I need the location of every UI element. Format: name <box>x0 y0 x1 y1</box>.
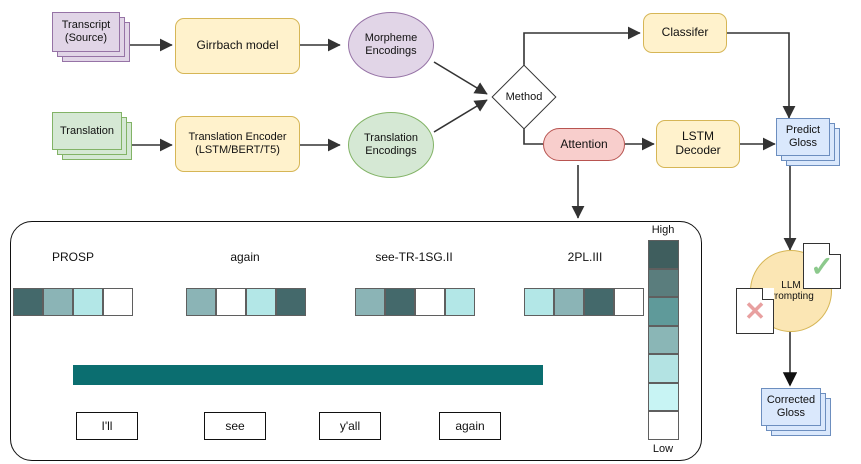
word-box-label: again <box>455 419 484 433</box>
colorbar-segment <box>648 297 679 326</box>
context-vector-bar <box>73 365 543 385</box>
morpheme-encodings-node[interactable]: Morpheme Encodings <box>348 12 434 78</box>
corrected-gloss-label-line1: Corrected <box>767 394 815 407</box>
translation-encodings-node[interactable]: Translation Encodings <box>348 112 434 178</box>
heatmap-row-label-3: 2PL.III <box>530 250 640 264</box>
word-box-3[interactable]: again <box>439 412 501 440</box>
check-glyph: ✓ <box>804 244 840 288</box>
colorbar-segment <box>648 354 679 383</box>
transcript-source-deck[interactable]: Transcript (Source) <box>52 12 130 62</box>
deck-sheet-front: Predict Gloss <box>776 118 830 156</box>
method-decision-node[interactable]: Method <box>501 74 547 120</box>
word-box-label: I'll <box>102 419 113 433</box>
translation-encoder-label-line2: (LSTM/BERT/T5) <box>188 144 286 157</box>
corrected-gloss-label-line2: Gloss <box>767 407 815 420</box>
method-label-wrap: Method <box>501 74 547 120</box>
heatmap-cell[interactable] <box>43 288 73 316</box>
row-label-text: 2PL.III <box>568 250 603 264</box>
translation-encoder-label-line1: Translation Encoder <box>188 131 286 144</box>
colorbar-segment <box>648 383 679 412</box>
deck-sheet-front: Corrected Gloss <box>761 388 821 426</box>
predict-gloss-label-line2: Gloss <box>786 137 820 150</box>
attention-colorbar <box>648 240 679 440</box>
word-box-label: y'all <box>340 419 360 433</box>
heatmap-cell[interactable] <box>584 288 614 316</box>
classifier-label: Classifer <box>662 26 709 40</box>
lstm-decoder-label-line2: Decoder <box>675 144 720 158</box>
heatmap-cell[interactable] <box>415 288 445 316</box>
translation-source-deck[interactable]: Translation <box>52 112 132 162</box>
word-box-1[interactable]: see <box>204 412 266 440</box>
lstm-decoder-node[interactable]: LSTM Decoder <box>656 120 740 168</box>
colorbar-high-label: High <box>640 224 686 236</box>
colorbar-segment <box>648 411 679 440</box>
girrbach-model-node[interactable]: Girrbach model <box>175 18 300 74</box>
heatmap-row-3[interactable] <box>524 288 644 316</box>
method-label: Method <box>506 91 543 103</box>
heatmap-row-label-1: again <box>190 250 300 264</box>
llm-prompting-label-line2: Prompting <box>768 291 814 302</box>
heatmap-cell[interactable] <box>73 288 103 316</box>
heatmap-cell[interactable] <box>13 288 43 316</box>
girrbach-model-label: Girrbach model <box>196 39 278 53</box>
heatmap-row-2[interactable] <box>355 288 475 316</box>
x-glyph: ✕ <box>737 289 773 333</box>
x-document-icon: ✕ <box>736 288 774 334</box>
heatmap-row-0[interactable] <box>13 288 133 316</box>
heatmap-cell[interactable] <box>524 288 554 316</box>
colorbar-low-text: Low <box>653 443 673 455</box>
colorbar-segment <box>648 326 679 355</box>
heatmap-row-label-2: see-TR-1SG.II <box>344 250 484 264</box>
translation-encodings-label-line1: Translation <box>364 132 418 145</box>
predict-gloss-deck[interactable]: Predict Gloss <box>776 118 842 168</box>
colorbar-low-label: Low <box>640 443 686 455</box>
colorbar-segment <box>648 269 679 298</box>
corrected-gloss-deck[interactable]: Corrected Gloss <box>761 388 833 436</box>
heatmap-cell[interactable] <box>246 288 276 316</box>
word-box-0[interactable]: I'll <box>76 412 138 440</box>
word-box-label: see <box>225 419 244 433</box>
morpheme-label-line1: Morpheme <box>365 32 418 45</box>
translation-label: Translation <box>60 125 114 138</box>
deck-sheet-front: Transcript (Source) <box>52 12 120 52</box>
heatmap-cell[interactable] <box>445 288 475 316</box>
heatmap-row-label-0: PROSP <box>18 250 128 264</box>
heatmap-cell[interactable] <box>554 288 584 316</box>
transcript-label-line1: Transcript <box>62 19 111 32</box>
heatmap-cell[interactable] <box>276 288 306 316</box>
heatmap-row-1[interactable] <box>186 288 306 316</box>
row-label-text: again <box>230 250 259 264</box>
colorbar-high-text: High <box>652 224 675 236</box>
colorbar-segment <box>648 240 679 269</box>
deck-sheet-front: Translation <box>52 112 122 150</box>
heatmap-cell[interactable] <box>186 288 216 316</box>
heatmap-cell[interactable] <box>216 288 246 316</box>
heatmap-cell[interactable] <box>385 288 415 316</box>
heatmap-cell[interactable] <box>103 288 133 316</box>
heatmap-cell[interactable] <box>614 288 644 316</box>
morpheme-label-line2: Encodings <box>365 45 418 58</box>
transcript-label-line2: (Source) <box>62 32 111 45</box>
row-label-text: see-TR-1SG.II <box>375 250 452 264</box>
classifier-node[interactable]: Classifer <box>643 13 727 53</box>
translation-encoder-node[interactable]: Translation Encoder (LSTM/BERT/T5) <box>175 116 300 172</box>
predict-gloss-label-line1: Predict <box>786 124 820 137</box>
row-label-text: PROSP <box>52 250 94 264</box>
check-document-icon: ✓ <box>803 243 841 289</box>
lstm-decoder-label-line1: LSTM <box>675 130 720 144</box>
attention-label: Attention <box>560 138 607 152</box>
diagram-canvas: Transcript (Source) Girrbach model Morph… <box>0 0 861 464</box>
translation-encodings-label-line2: Encodings <box>364 145 418 158</box>
word-box-2[interactable]: y'all <box>319 412 381 440</box>
heatmap-cell[interactable] <box>355 288 385 316</box>
attention-node[interactable]: Attention <box>543 128 625 161</box>
